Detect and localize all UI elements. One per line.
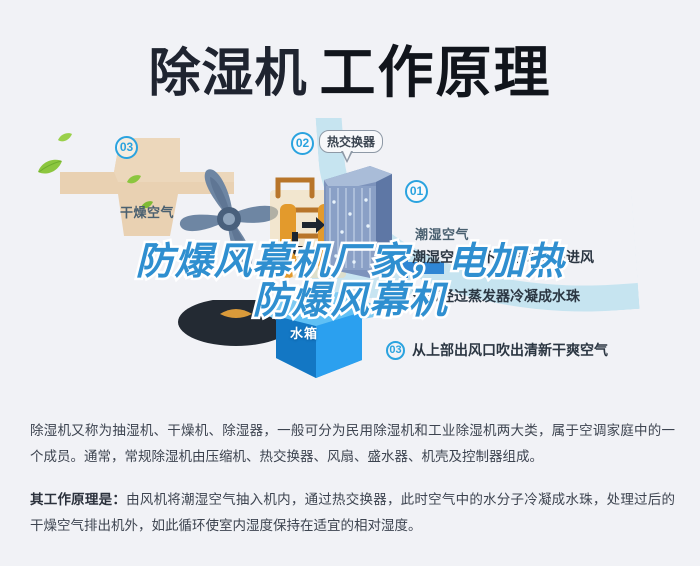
leaf-icon — [57, 132, 73, 143]
dry-air-label: 干燥空气 — [120, 202, 174, 221]
legend-badge-01: 01 — [386, 248, 405, 267]
step-badge-01: 01 — [405, 180, 428, 203]
paragraph-2: 其工作原理是：由风机将潮湿空气抽入机内，通过热交换器，此时空气中的水分子冷凝成水… — [30, 487, 675, 539]
humid-air-label: 潮湿空气 — [415, 224, 469, 243]
legend-item-03: 03 从上部出风口吹出清新干爽空气 — [386, 340, 608, 360]
article-body: 除湿机又称为抽湿机、干燥机、除湿器，一般可分为民用除湿机和工业除湿机两大类，属于… — [30, 418, 675, 539]
legend-badge-03: 03 — [386, 341, 405, 360]
paragraph-2-label: 其工作原理是： — [30, 492, 126, 507]
legend-item-01: 01 潮湿空气从下部进风口中进风 — [386, 247, 594, 267]
callout-tail-icon — [341, 151, 353, 163]
dehumidifier-diagram: 水箱 热交换器 03 02 01 干燥空气 潮湿空气 01 潮湿空气从下部进风口… — [0, 118, 700, 408]
legend-badge-02: 02 — [386, 287, 405, 306]
water-tank-icon — [258, 290, 388, 382]
step-badge-02: 02 — [291, 132, 314, 155]
heat-exchanger-callout: 热交换器 — [319, 130, 383, 153]
paragraph-1: 除湿机又称为抽湿机、干燥机、除湿器，一般可分为民用除湿机和工业除湿机两大类，属于… — [30, 418, 675, 470]
page-title-part1: 除湿机 — [148, 45, 307, 103]
page-title: 除湿机工作原理 — [0, 28, 700, 109]
legend-text-02: 空气经过蒸发器冷凝成水珠 — [412, 286, 580, 306]
leaf-icon — [36, 158, 64, 176]
legend-item-02: 02 空气经过蒸发器冷凝成水珠 — [386, 286, 580, 306]
water-tank-label: 水箱 — [290, 323, 318, 342]
heat-exchanger-icon — [318, 156, 396, 284]
page-title-part2: 工作原理 — [320, 41, 552, 104]
step-badge-03: 03 — [115, 136, 138, 159]
legend-text-03: 从上部出风口吹出清新干爽空气 — [412, 340, 608, 360]
page-root: 除湿机工作原理 — [0, 0, 700, 566]
leaf-icon — [126, 174, 142, 185]
paragraph-2-text: 由风机将潮湿空气抽入机内，通过热交换器，此时空气中的水分子冷凝成水珠，处理过后的… — [30, 492, 675, 533]
legend-text-01: 潮湿空气从下部进风口中进风 — [412, 247, 594, 267]
